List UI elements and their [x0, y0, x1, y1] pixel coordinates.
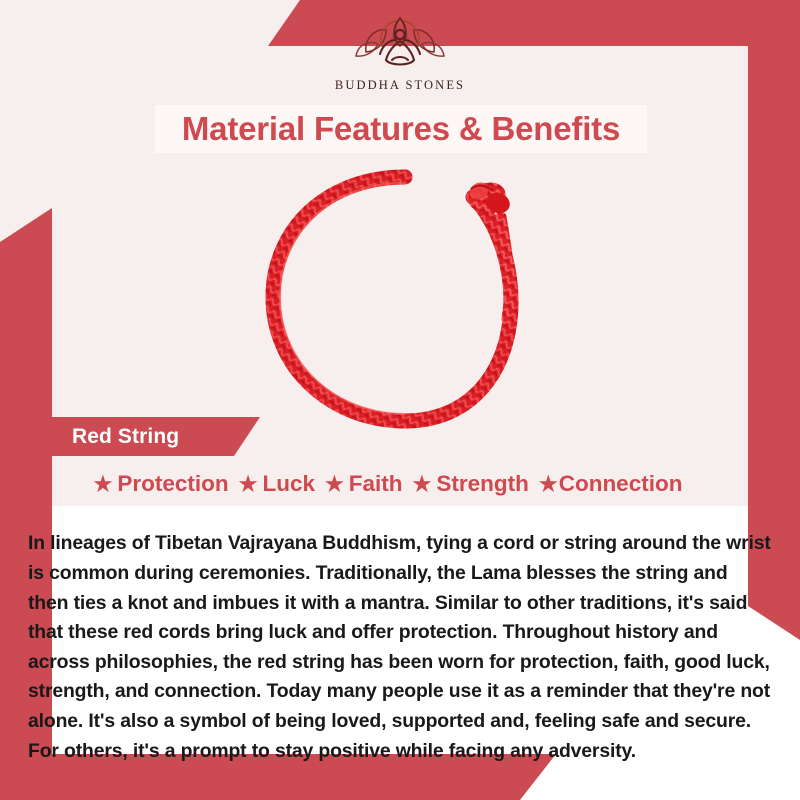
feature-label: Connection: [559, 471, 683, 497]
star-icon: ★: [539, 474, 558, 495]
product-label-ribbon: Red String: [24, 417, 260, 456]
description-paragraph: In lineages of Tibetan Vajrayana Buddhis…: [28, 529, 772, 766]
feature-strength: ★ Strength: [409, 471, 533, 497]
feature-label: Strength: [436, 471, 529, 497]
product-label: Red String: [72, 425, 179, 449]
lotus-meditation-icon: [344, 16, 456, 74]
page-title: Material Features & Benefits: [182, 110, 620, 148]
feature-label: Luck: [262, 471, 315, 497]
feature-label: Faith: [349, 471, 403, 497]
red-string-braided-bracelet-graphic: [255, 163, 545, 435]
infographic-page: BUDDHA STONES Material Features & Benefi…: [0, 0, 800, 800]
star-icon: ★: [413, 474, 432, 495]
brand-wordmark: BUDDHA STONES: [335, 78, 465, 93]
feature-faith: ★ Faith: [321, 471, 407, 497]
star-icon: ★: [325, 474, 344, 495]
product-image: [52, 158, 748, 440]
feature-label: Protection: [117, 471, 228, 497]
feature-protection: ★ Protection: [90, 471, 233, 497]
feature-luck: ★ Luck: [235, 471, 319, 497]
star-icon: ★: [94, 474, 113, 495]
title-banner: Material Features & Benefits: [155, 105, 647, 153]
brand-header: BUDDHA STONES: [0, 0, 800, 110]
feature-list: ★ Protection ★ Luck ★ Faith ★ Strength ★…: [28, 466, 748, 502]
feature-connection: ★ Connection: [535, 471, 687, 497]
star-icon: ★: [239, 474, 258, 495]
